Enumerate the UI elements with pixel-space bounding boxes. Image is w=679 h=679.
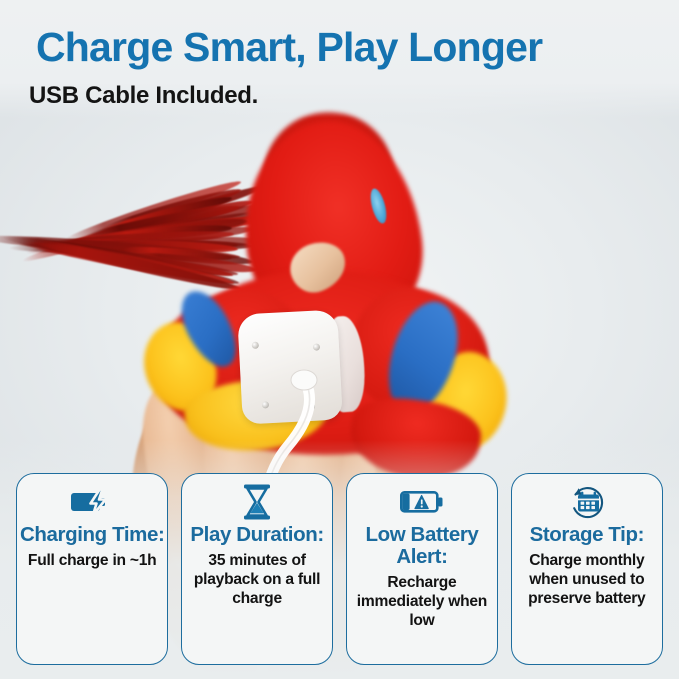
feature-cards: Charging Time: Full charge in ~1h Play D… — [0, 473, 679, 665]
battery-low-alert-icon — [399, 481, 445, 523]
screw — [252, 342, 259, 349]
card-title: Low Battery Alert: — [347, 524, 497, 568]
card-title: Storage Tip: — [527, 524, 647, 546]
screw — [313, 343, 320, 350]
page-subtitle: USB Cable Included. — [29, 82, 258, 110]
card-title: Charging Time: — [17, 524, 167, 546]
card-body: Recharge immediately when low — [347, 573, 497, 631]
hourglass-icon — [241, 481, 273, 523]
card-title: Play Duration: — [187, 524, 326, 546]
feature-card-play-duration[interactable]: Play Duration: 35 minutes of playback on… — [181, 473, 333, 665]
tail-feathers — [0, 165, 282, 300]
feature-card-storage-tip[interactable]: Storage Tip: Charge monthly when unused … — [511, 473, 663, 665]
card-body: Charge monthly when unused to preserve b… — [512, 551, 662, 609]
feature-card-charging-time[interactable]: Charging Time: Full charge in ~1h — [16, 473, 168, 665]
product-infographic: Charge Smart, Play Longer USB Cable Incl… — [0, 0, 679, 679]
calendar-refresh-icon — [567, 481, 607, 523]
card-body: Full charge in ~1h — [23, 551, 162, 570]
header: Charge Smart, Play Longer USB Cable Incl… — [0, 0, 679, 118]
card-body: 35 minutes of playback on a full charge — [182, 551, 332, 609]
battery-charging-icon — [69, 481, 115, 523]
page-title: Charge Smart, Play Longer — [36, 24, 542, 71]
feature-card-low-battery-alert[interactable]: Low Battery Alert: Recharge immediately … — [346, 473, 498, 665]
